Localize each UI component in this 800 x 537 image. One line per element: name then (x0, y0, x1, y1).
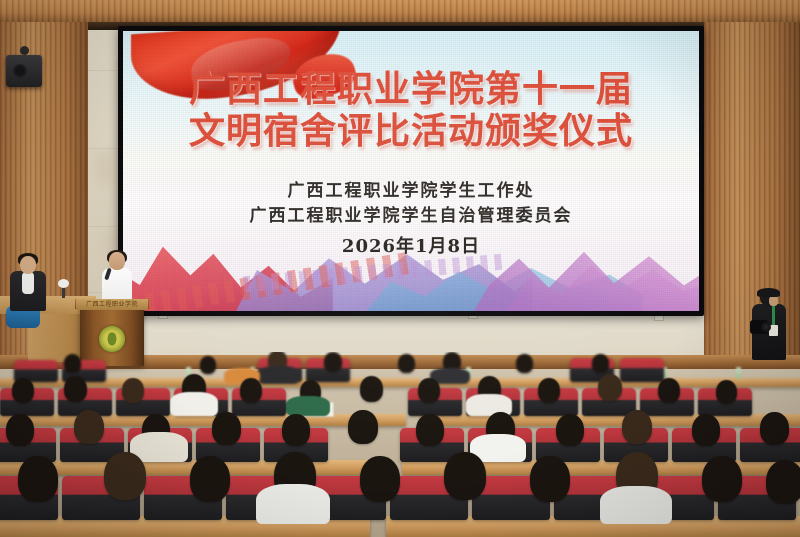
seated-staff-left (6, 254, 54, 318)
desk-microphone (62, 286, 65, 298)
wall-speaker (6, 55, 42, 87)
led-screen-bezel: 广西工程职业学院第十一届 文明宿舍评比活动颁奖仪式 广西工程职业学院学生工作处 … (118, 26, 704, 316)
ceiling-wood-band (0, 0, 800, 22)
school-emblem-icon (99, 326, 125, 352)
photographer-right (748, 288, 792, 362)
lanyard (772, 306, 775, 326)
photographer-face (769, 296, 778, 306)
cap (757, 288, 780, 297)
presenter-head (109, 252, 125, 270)
led-screen: 广西工程职业学院第十一届 文明宿舍评比活动颁奖仪式 广西工程职业学院学生工作处 … (123, 31, 699, 311)
camera-icon (750, 320, 768, 334)
led-pixel-grid (123, 31, 699, 311)
auditorium-photo: 广西工程职业学院第十一届 文明宿舍评比活动颁奖仪式 广西工程职业学院学生工作处 … (0, 0, 800, 537)
audience-seating: 优秀宿舍 (0, 352, 800, 537)
seated-head (20, 256, 36, 274)
seated-shirt (22, 272, 34, 294)
security-camera-icon (20, 46, 29, 55)
podium-sign: 广西工程职业学院 (76, 299, 148, 310)
